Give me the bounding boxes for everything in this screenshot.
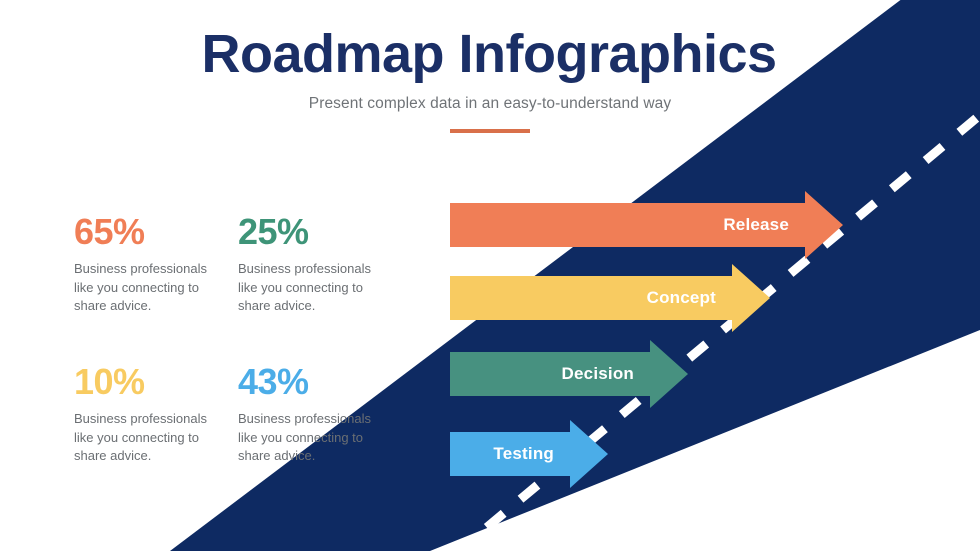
roadmap-step-label: Release (723, 215, 789, 235)
roadmap-step-concept[interactable]: Concept (450, 264, 770, 332)
arrow-shape-release (450, 191, 843, 259)
stat-block-1: 65% Business professionals like you conn… (74, 214, 238, 364)
stat-description: Business professionals like you connecti… (238, 260, 378, 316)
stat-description: Business professionals like you connecti… (238, 410, 378, 466)
statistics-grid: 65% Business professionals like you conn… (74, 214, 424, 514)
stat-description: Business professionals like you connecti… (74, 410, 214, 466)
stat-block-3: 10% Business professionals like you conn… (74, 364, 238, 514)
arrow-shape-testing (450, 420, 608, 488)
arrow-shape-decision (450, 340, 688, 408)
arrow-shape-concept (450, 264, 770, 332)
title-underline-rule (450, 129, 530, 133)
stat-value: 65% (74, 214, 238, 250)
page-subtitle: Present complex data in an easy-to-under… (0, 95, 980, 113)
page-title: Roadmap Infographics (0, 26, 979, 83)
roadmap-step-label: Decision (562, 364, 634, 384)
roadmap-step-testing[interactable]: Testing (450, 420, 608, 488)
stat-value: 25% (238, 214, 402, 250)
stat-block-4: 43% Business professionals like you conn… (238, 364, 402, 514)
slide-canvas: Roadmap Infographics Present complex dat… (0, 0, 980, 551)
roadmap-step-release[interactable]: Release (450, 191, 843, 259)
header: Roadmap Infographics Present complex dat… (0, 26, 980, 133)
stat-value: 10% (74, 364, 238, 400)
lane-dash-line (400, 90, 980, 551)
roadmap-step-label: Concept (647, 288, 716, 308)
stat-value: 43% (238, 364, 402, 400)
roadmap-step-decision[interactable]: Decision (450, 340, 688, 408)
roadmap-step-label: Testing (493, 444, 554, 464)
stat-description: Business professionals like you connecti… (74, 260, 214, 316)
stat-block-2: 25% Business professionals like you conn… (238, 214, 402, 364)
